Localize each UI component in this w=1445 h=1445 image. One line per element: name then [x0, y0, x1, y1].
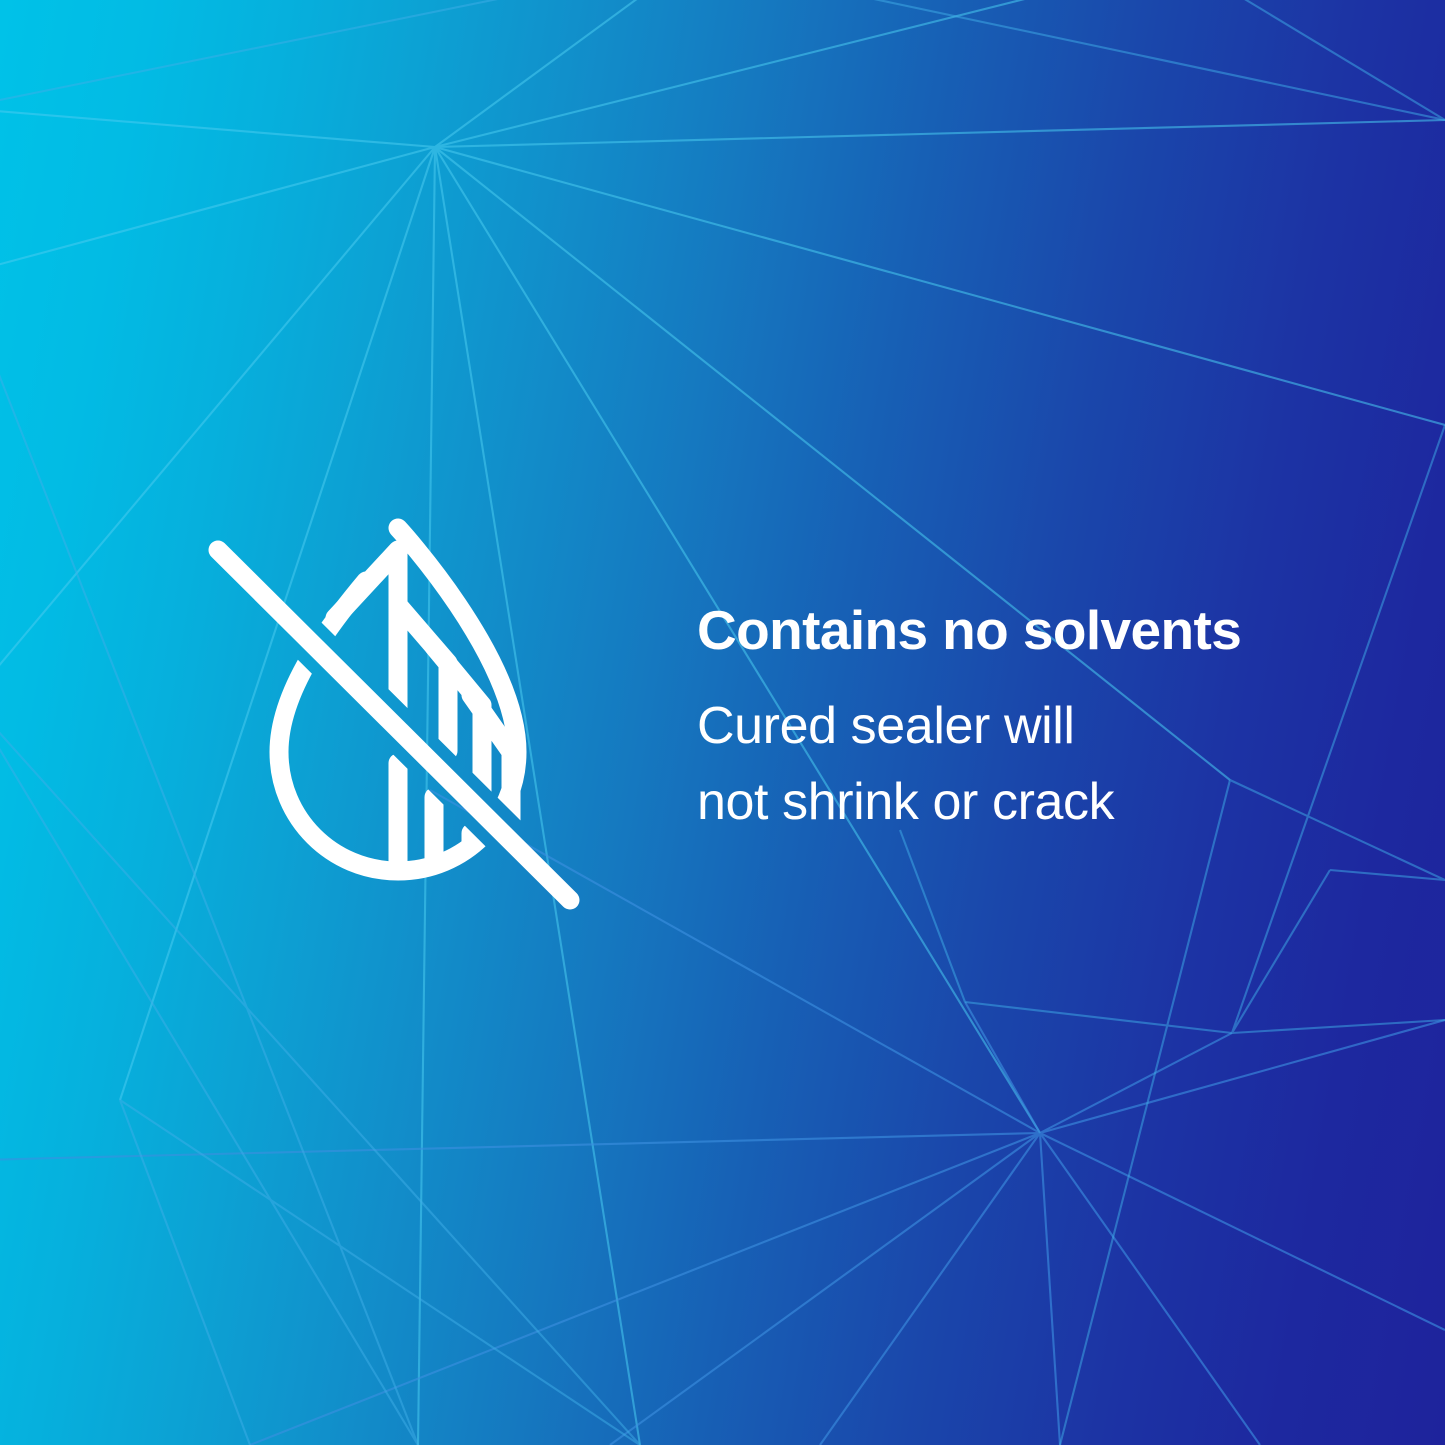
feature-text-block: Contains no solvents Cured sealer will n…	[697, 598, 1337, 840]
feature-description: Cured sealer will not shrink or crack	[697, 688, 1337, 840]
feature-headline: Contains no solvents	[697, 598, 1337, 662]
feature-description-line-2: not shrink or crack	[697, 764, 1337, 840]
promo-feature-card: Contains no solvents Cured sealer will n…	[0, 0, 1445, 1445]
no-solvents-droplet-icon	[186, 505, 616, 935]
feature-description-line-1: Cured sealer will	[697, 688, 1337, 764]
